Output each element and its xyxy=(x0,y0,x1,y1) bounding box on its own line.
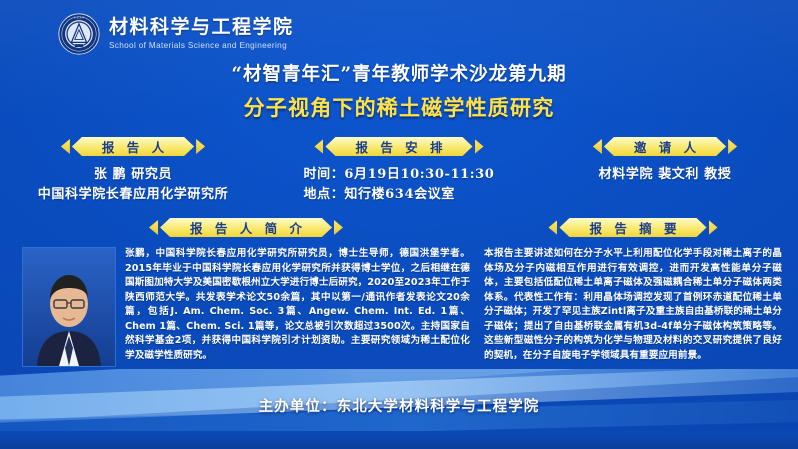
bio-row: 张鹏，中国科学院长春应用化学研究所研究员，博士生导师，德国洪堡学者。2015年毕… xyxy=(22,247,470,367)
banner-speaker-label: 报 告 人 xyxy=(98,137,168,156)
ribbon-tip-left-icon xyxy=(61,139,70,154)
banner-bio-label: 报 告 人 简 介 xyxy=(186,218,306,237)
school-branding: 东 北 大 学 材料科学与工程学院 School of Materials Sc… xyxy=(58,13,294,55)
banner-bio: 报 告 人 简 介 xyxy=(160,218,332,237)
school-name-block: 材料科学与工程学院 School of Materials Science an… xyxy=(109,18,294,50)
ribbon-tip-right-icon xyxy=(196,139,205,154)
series-title: “材智青年汇”青年教师学术沙龙第九期 xyxy=(0,60,798,86)
poster-footer: 主办单位：东北大学材料科学与工程学院 xyxy=(0,369,798,449)
schedule-time: 时间：6月19日10:30-11:30 xyxy=(304,165,495,185)
banner-schedule-label: 报 告 安 排 xyxy=(351,137,446,156)
banner-host: 邀 请 人 xyxy=(604,137,726,156)
poster-header: 东 北 大 学 材料科学与工程学院 School of Materials Sc… xyxy=(0,0,798,58)
bio-paragraph: 张鹏，中国科学院长春应用化学研究所研究员，博士生导师，德国洪堡学者。2015年毕… xyxy=(125,247,470,367)
schedule-location: 地点：知行楼634会议室 xyxy=(304,185,495,205)
host-name: 材料学院 裴文利 教授 xyxy=(599,165,732,185)
banner-speaker: 报 告 人 xyxy=(72,137,194,156)
university-seal-icon: 东 北 大 学 xyxy=(58,13,100,55)
ribbon-tip-left-icon xyxy=(314,139,323,154)
speaker-details: 张 鹏 研究员 中国科学院长春应用化学研究所 xyxy=(38,165,228,205)
column-host: 邀 请 人 材料学院 裴文利 教授 xyxy=(532,137,798,205)
banner-abstract-label: 报 告 摘 要 xyxy=(585,218,680,237)
banner-schedule: 报 告 安 排 xyxy=(325,137,472,156)
ribbon-tip-left-icon xyxy=(548,220,557,235)
ribbon-tip-left-icon xyxy=(593,139,602,154)
poster-canvas: 东 北 大 学 材料科学与工程学院 School of Materials Sc… xyxy=(0,0,798,449)
host-details: 材料学院 裴文利 教授 xyxy=(599,165,732,185)
footer-base-strip xyxy=(0,431,798,449)
speaker-affiliation: 中国科学院长春应用化学研究所 xyxy=(38,185,228,205)
banner-abstract: 报 告 摘 要 xyxy=(559,218,706,237)
ribbon-tip-right-icon xyxy=(475,139,484,154)
info-columns: 报 告 人 张 鹏 研究员 中国科学院长春应用化学研究所 报 告 安 排 时间：… xyxy=(0,137,798,205)
ribbon-tip-right-icon xyxy=(334,220,343,235)
ribbon-tip-left-icon xyxy=(149,220,158,235)
abstract-paragraph: 本报告主要讲述如何在分子水平上利用配位化学手段对稀土离子的晶体场及分子内磁相互作… xyxy=(484,247,782,364)
portrait-illustration-icon xyxy=(23,248,115,366)
topic-title: 分子视角下的稀土磁学性质研究 xyxy=(0,92,798,122)
panel-bio: 报 告 人 简 介 xyxy=(0,218,478,367)
detail-panels: 报 告 人 简 介 xyxy=(0,218,798,367)
ribbon-tip-right-icon xyxy=(728,139,737,154)
schedule-details: 时间：6月19日10:30-11:30 地点：知行楼634会议室 xyxy=(304,165,495,205)
column-schedule: 报 告 安 排 时间：6月19日10:30-11:30 地点：知行楼634会议室 xyxy=(266,137,532,205)
speaker-name: 张 鹏 研究员 xyxy=(38,165,228,185)
school-name-en: School of Materials Science and Engineer… xyxy=(109,42,294,50)
organizer-text: 主办单位：东北大学材料科学与工程学院 xyxy=(0,395,798,416)
ribbon-tip-right-icon xyxy=(709,220,718,235)
column-speaker: 报 告 人 张 鹏 研究员 中国科学院长春应用化学研究所 xyxy=(0,137,266,205)
school-name-cn: 材料科学与工程学院 xyxy=(109,18,294,37)
panel-abstract: 报 告 摘 要 本报告主要讲述如何在分子水平上利用配位化学手段对稀土离子的晶体场… xyxy=(478,218,798,367)
speaker-portrait xyxy=(22,247,116,367)
banner-host-label: 邀 请 人 xyxy=(630,137,700,156)
